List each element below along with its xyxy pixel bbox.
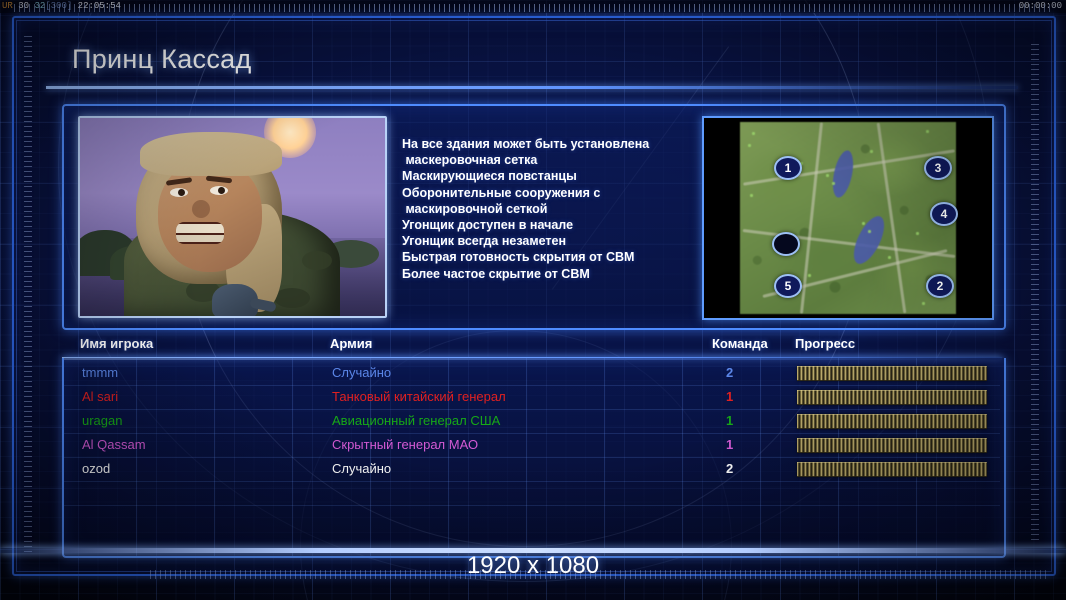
map-tree [808,274,811,277]
player-name: ozod [82,457,110,481]
player-team[interactable]: 1 [726,433,733,457]
description-line: Угонщик доступен в начале [402,217,702,233]
table-gridline [64,481,1000,482]
column-header-name: Имя игрока [80,336,153,351]
description-line: Более частое скрытие от СВМ [402,266,702,282]
table-gridline [64,505,1000,506]
description-line: маскеровочная сетка [402,152,702,168]
map-tree [832,182,835,185]
column-header-team: Команда [712,336,768,351]
player-table: tmmm Случайно 2 Al sari Танковый китайск… [62,358,1006,558]
player-name: uragan [82,409,122,433]
portrait-teeth-upper [176,224,224,233]
table-row[interactable]: Al Qassam Скрытный генерал МАО 1 [64,433,1000,457]
player-name: Al sari [82,385,118,409]
player-army[interactable]: Случайно [332,457,391,481]
portrait-nose [192,200,210,218]
map-tree [826,174,829,177]
top-right-clock: 00:00:00 [1019,0,1062,13]
title-bar: Принц Кассад [46,38,1018,90]
description-line: маскировочной сеткой [402,201,702,217]
status-value-2: 32 [34,1,45,11]
table-row[interactable]: uragan Авиационный генерал США 1 [64,409,1000,433]
player-progress-bar [797,366,987,381]
player-team[interactable]: 1 [726,409,733,433]
map-preview[interactable]: 1 3 4 5 2 [702,116,994,320]
description-line: На все здания может быть установлена [402,136,702,152]
map-start-position-2[interactable]: 2 [926,274,954,298]
top-status-bar: UR 30 32[300] 22:05:54 00:00:00 [0,0,1066,13]
status-value-1: 30 [18,1,29,11]
portrait-mouth [176,222,224,244]
map-tree [750,194,753,197]
map-start-position-5[interactable]: 5 [774,274,802,298]
top-left-status: UR 30 32[300] 22:05:54 [2,0,121,13]
status-clock: 22:05:54 [78,1,121,11]
table-row[interactable]: Al sari Танковый китайский генерал 1 [64,385,1000,409]
map-tree [888,256,891,259]
player-army[interactable]: Случайно [332,361,391,385]
map-tree [752,132,755,135]
resolution-label: 1920 x 1080 [0,552,1066,580]
player-team[interactable]: 2 [726,361,733,385]
description-line: Быстрая готовность скрытия от СВМ [402,249,702,265]
map-tree [862,222,865,225]
map-start-position-empty[interactable] [772,232,800,256]
portrait-headband [140,132,282,176]
player-army[interactable]: Авиационный генерал США [332,409,500,433]
status-bracket-value: [300] [45,1,72,11]
player-progress-bar [797,462,987,477]
map-tree [916,232,919,235]
map-start-position-4[interactable]: 4 [930,202,958,226]
description-line: Маскирующиеся повстанцы [402,168,702,184]
player-progress-bar [797,438,987,453]
general-portrait [78,116,387,318]
player-team[interactable]: 2 [726,457,733,481]
status-prefix: UR [2,1,13,11]
player-progress-bar [797,414,987,429]
page-title: Принц Кассад [72,44,252,75]
map-tree [748,144,751,147]
player-army[interactable]: Танковый китайский генерал [332,385,506,409]
camo-patch [302,251,332,270]
portrait-pupil [178,189,185,196]
description-line: Угонщик всегда незаметен [402,233,702,249]
game-lobby-screen: UR 30 32[300] 22:05:54 00:00:00 Принц Ка… [0,0,1066,600]
player-army[interactable]: Скрытный генерал МАО [332,433,478,457]
column-header-army: Армия [330,336,372,351]
map-tree [868,230,871,233]
player-progress-bar [797,390,987,405]
camo-patch [274,288,310,308]
column-header-progress: Прогресс [795,336,855,351]
map-tree [926,130,929,133]
general-description: На все здания может быть установлена мас… [402,136,702,282]
map-start-position-3[interactable]: 3 [924,156,952,180]
player-name: tmmm [82,361,118,385]
general-info-panel: На все здания может быть установлена мас… [62,104,1006,330]
map-tree [922,302,925,305]
portrait-teeth-lower [176,235,224,242]
player-table-header: Имя игрока Армия Команда Прогресс [62,336,1002,358]
portrait-pupil [218,187,225,194]
description-line: Оборонительные сооружения с [402,185,702,201]
map-start-position-1[interactable]: 1 [774,156,802,180]
map-terrain [740,122,956,314]
player-team[interactable]: 1 [726,385,733,409]
title-divider [46,86,1018,89]
map-tree [870,150,873,153]
table-row[interactable]: tmmm Случайно 2 [64,361,1000,385]
table-row[interactable]: ozod Случайно 2 [64,457,1000,481]
player-name: Al Qassam [82,433,146,457]
